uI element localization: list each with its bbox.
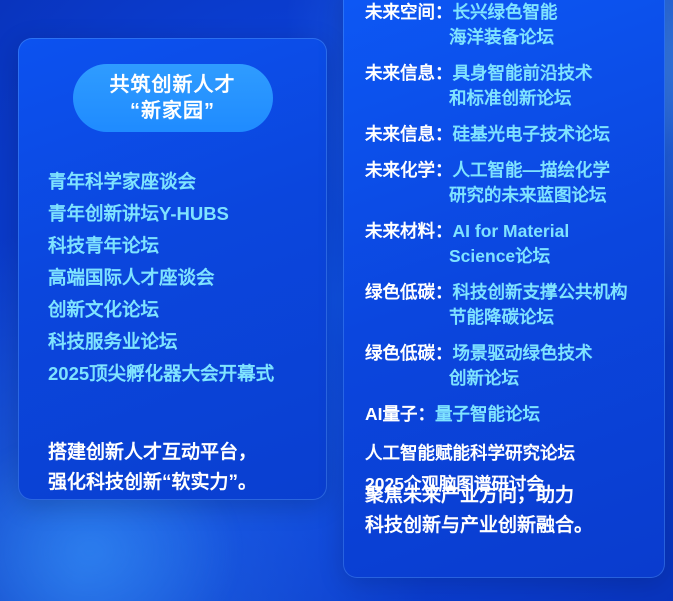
- list-item: 创新文化论坛: [48, 294, 311, 326]
- left-panel-list: 青年科学家座谈会 青年创新讲坛Y-HUBS 科技青年论坛 高端国际人才座谈会 创…: [48, 166, 311, 390]
- list-item: 未来空间：长兴绿色智能 海洋装备论坛: [365, 0, 655, 50]
- list-item: 2025顶尖孵化器大会开幕式: [48, 358, 311, 390]
- list-item: AI量子：量子智能论坛: [365, 402, 655, 427]
- list-item: 未来材料：AI for Material Science论坛: [365, 219, 655, 269]
- list-item: 绿色低碳：场景驱动绿色技术 创新论坛: [365, 341, 655, 391]
- list-item-line-1: 未来材料：AI for Material: [365, 219, 655, 244]
- list-item: 未来信息：具身智能前沿技术 和标准创新论坛: [365, 61, 655, 111]
- list-item: 未来信息：硅基光电子技术论坛: [365, 122, 655, 147]
- right-footer-line-2: 科技创新与产业创新融合。: [365, 511, 653, 541]
- list-item: 未来化学：人工智能—描绘化学 研究的未来蓝图论坛: [365, 158, 655, 208]
- right-panel-footer: 聚焦未来产业方向，助力 科技创新与产业创新融合。: [365, 481, 653, 541]
- item-label: 绿色低碳：: [365, 343, 453, 363]
- list-item-line-1: 未来信息：硅基光电子技术论坛: [365, 122, 655, 147]
- left-footer-line-1: 搭建创新人才互动平台，: [48, 438, 309, 468]
- list-item-line-1: 绿色低碳：场景驱动绿色技术: [365, 341, 655, 366]
- list-item: 高端国际人才座谈会: [48, 262, 311, 294]
- item-label: 未来化学：: [365, 160, 453, 180]
- item-value: 具身智能前沿技术: [453, 63, 593, 83]
- right-panel-card: 未来空间：长兴绿色智能 海洋装备论坛 未来信息：具身智能前沿技术 和标准创新论坛…: [343, 0, 665, 578]
- item-label: 未来信息：: [365, 63, 453, 83]
- item-label: 未来材料：: [365, 221, 453, 241]
- list-item-line-2: 创新论坛: [365, 366, 655, 391]
- poster-canvas: 共筑创新人才 “新家园” 青年科学家座谈会 青年创新讲坛Y-HUBS 科技青年论…: [0, 0, 673, 601]
- item-value: 人工智能—描绘化学: [453, 160, 611, 180]
- left-footer-line-2: 强化科技创新“软实力”。: [48, 468, 309, 498]
- list-item-line-1: 未来化学：人工智能—描绘化学: [365, 158, 655, 183]
- left-panel-footer: 搭建创新人才互动平台， 强化科技创新“软实力”。: [48, 438, 309, 498]
- list-item-line-1: 绿色低碳：科技创新支撑公共机构: [365, 280, 655, 305]
- list-item-line-2: 海洋装备论坛: [365, 25, 655, 50]
- right-panel-list: 未来空间：长兴绿色智能 海洋装备论坛 未来信息：具身智能前沿技术 和标准创新论坛…: [365, 0, 655, 500]
- item-value: AI for Material: [453, 221, 570, 241]
- item-value: 硅基光电子技术论坛: [453, 124, 611, 144]
- left-panel-card: 共筑创新人才 “新家园” 青年科学家座谈会 青年创新讲坛Y-HUBS 科技青年论…: [18, 38, 327, 500]
- list-item-line-2: 研究的未来蓝图论坛: [365, 183, 655, 208]
- list-item: 人工智能赋能科学研究论坛: [365, 438, 655, 469]
- item-value: 科技创新支撑公共机构: [453, 282, 628, 302]
- item-label: 未来空间：: [365, 2, 453, 22]
- list-item-line-2: 节能降碳论坛: [365, 305, 655, 330]
- list-item: 绿色低碳：科技创新支撑公共机构 节能降碳论坛: [365, 280, 655, 330]
- item-value: 量子智能论坛: [435, 404, 540, 424]
- list-item-line-1: AI量子：量子智能论坛: [365, 402, 655, 427]
- list-item: 科技青年论坛: [48, 230, 311, 262]
- item-label: 绿色低碳：: [365, 282, 453, 302]
- item-label: 未来信息：: [365, 124, 453, 144]
- left-panel-badge: 共筑创新人才 “新家园”: [73, 64, 273, 132]
- list-item-line-2: 和标准创新论坛: [365, 86, 655, 111]
- right-footer-line-1: 聚焦未来产业方向，助力: [365, 481, 653, 511]
- list-item-line-2: Science论坛: [365, 244, 655, 269]
- badge-line-1: 共筑创新人才: [110, 72, 236, 98]
- item-value: 长兴绿色智能: [453, 2, 558, 22]
- list-item: 青年创新讲坛Y-HUBS: [48, 198, 311, 230]
- item-value: 场景驱动绿色技术: [453, 343, 593, 363]
- badge-line-2: “新家园”: [130, 98, 215, 124]
- list-item-line-1: 未来信息：具身智能前沿技术: [365, 61, 655, 86]
- list-item: 科技服务业论坛: [48, 326, 311, 358]
- list-item-line-1: 未来空间：长兴绿色智能: [365, 0, 655, 25]
- list-item: 青年科学家座谈会: [48, 166, 311, 198]
- item-label: AI量子：: [365, 404, 435, 424]
